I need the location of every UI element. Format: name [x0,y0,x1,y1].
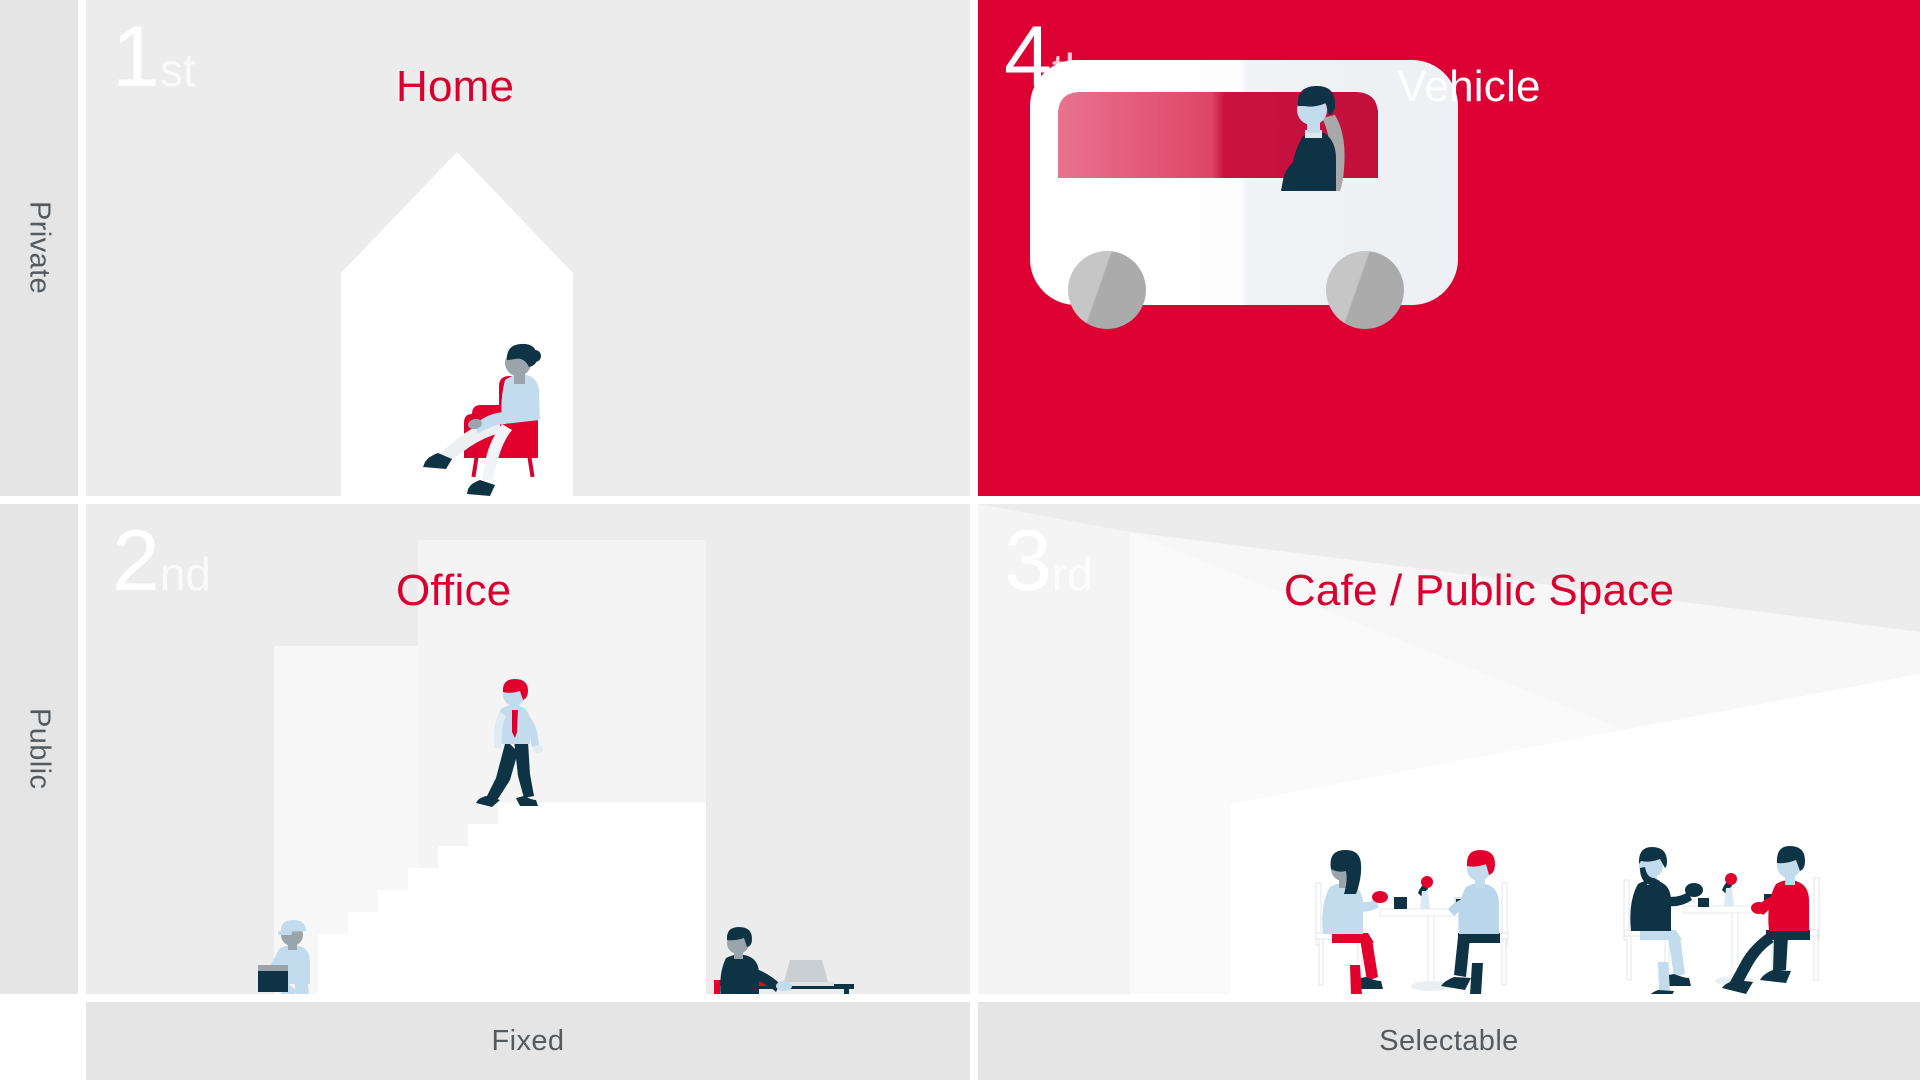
quadrant-title-vehicle: Vehicle [978,62,1920,112]
office-illustration [86,504,970,994]
axis-private-text: Private [23,201,56,294]
rank-ordinal: nd [160,548,211,600]
quadrant-title-office: Office [396,566,511,616]
quadrant-cafe[interactable]: 3rd Cafe / Public Space [978,504,1920,994]
rank-number: 1 [112,9,159,105]
rank-number: 2 [112,513,159,609]
quadrant-title-home: Home [396,62,514,112]
axis-label-public: Public [0,504,78,994]
home-illustration [86,0,970,496]
rank-badge-office: 2nd [112,518,211,604]
axis-fixed-text: Fixed [492,1025,565,1058]
axis-public-text: Public [23,708,56,789]
quadrant-title-cafe: Cafe / Public Space [978,566,1920,616]
quadrant-home[interactable]: 1st Home [86,0,970,496]
axis-label-selectable: Selectable [978,1002,1920,1080]
rank-badge-home: 1st [112,14,196,100]
quadrant-office[interactable]: 2nd Office [86,504,970,994]
axis-label-private: Private [0,0,78,496]
axis-corner-blank [0,1002,78,1080]
axis-selectable-text: Selectable [1379,1025,1518,1058]
rank-ordinal: st [160,44,196,96]
axis-label-fixed: Fixed [86,1002,970,1080]
four-spaces-matrix: Private Public Fixed Selectable [0,0,1920,1080]
quadrant-vehicle[interactable]: 4th Vehicle [978,0,1920,496]
